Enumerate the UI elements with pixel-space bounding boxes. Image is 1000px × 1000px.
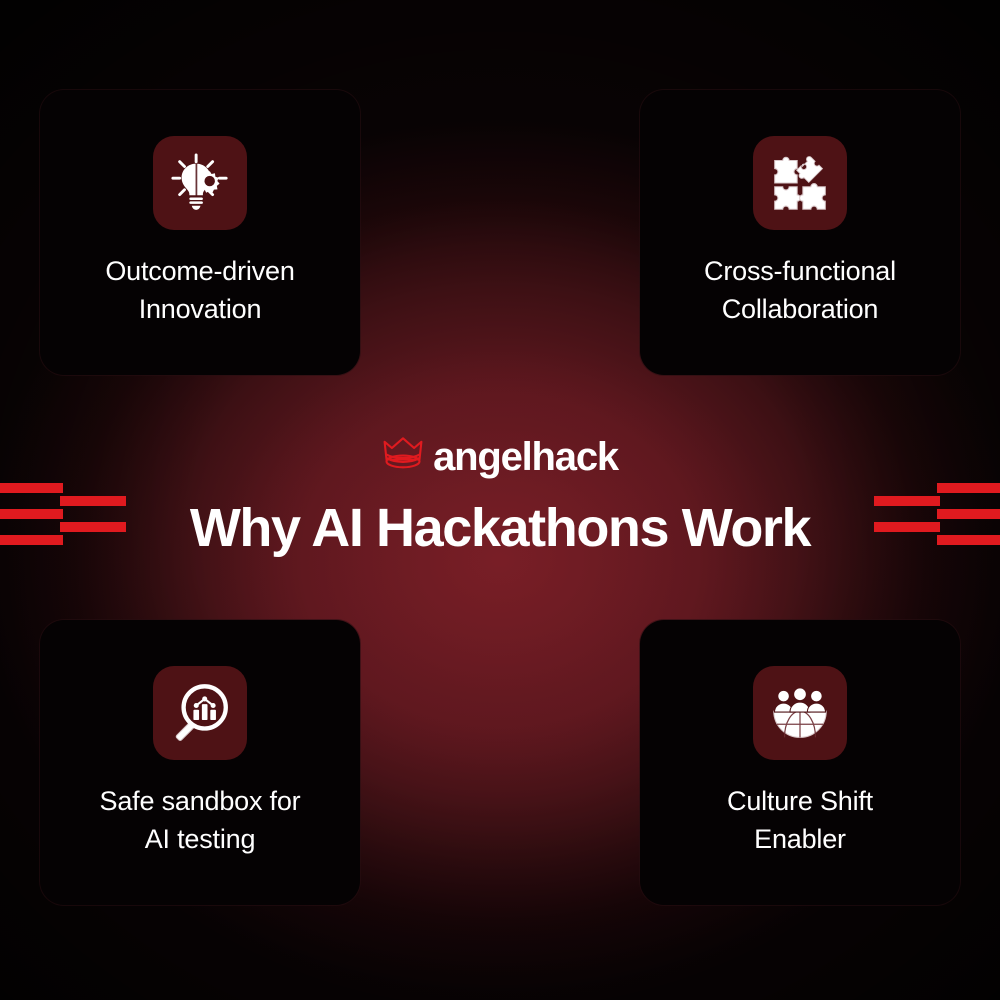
feature-card-culture-shift-enabler[interactable]: Culture Shift Enabler	[640, 620, 960, 905]
puzzle-pieces-icon-tile	[753, 136, 847, 230]
red-bar	[0, 535, 63, 545]
center-block: angelhack Why AI Hackathons Work	[0, 432, 1000, 557]
red-bar	[60, 496, 126, 506]
red-bar	[937, 483, 1000, 493]
red-bar	[874, 496, 940, 506]
feature-card-safe-sandbox-for-ai-testing[interactable]: Safe sandbox for AI testing	[40, 620, 360, 905]
feature-card-cross-functional-collaboration[interactable]: Cross-functional Collaboration	[640, 90, 960, 375]
crown-icon	[382, 436, 424, 475]
people-globe-icon-tile	[753, 666, 847, 760]
people-globe-icon	[770, 683, 830, 743]
red-bar	[0, 509, 63, 519]
feature-card-outcome-driven-innovation[interactable]: Outcome-driven Innovation	[40, 90, 360, 375]
puzzle-pieces-icon	[770, 153, 830, 213]
lightbulb-gear-icon-tile	[153, 136, 247, 230]
feature-card-label: Cross-functional Collaboration	[655, 252, 945, 329]
feature-card-label: Outcome-driven Innovation	[55, 252, 345, 329]
red-bar	[937, 535, 1000, 545]
red-bar	[60, 522, 126, 532]
lightbulb-gear-icon	[169, 152, 231, 214]
feature-card-label: Culture Shift Enabler	[655, 782, 945, 859]
magnifier-bar-chart-icon-tile	[153, 666, 247, 760]
page-title: Why AI Hackathons Work	[190, 500, 810, 557]
feature-card-label: Safe sandbox for AI testing	[55, 782, 345, 859]
red-bars-left	[0, 483, 126, 545]
magnifier-bar-chart-icon	[170, 683, 230, 743]
angelhack-logo[interactable]: angelhack	[382, 432, 618, 478]
red-bar	[937, 509, 1000, 519]
logo-wordmark: angelhack	[433, 437, 618, 477]
red-bar	[874, 522, 940, 532]
red-bars-right	[874, 483, 1000, 545]
red-bar	[0, 483, 63, 493]
